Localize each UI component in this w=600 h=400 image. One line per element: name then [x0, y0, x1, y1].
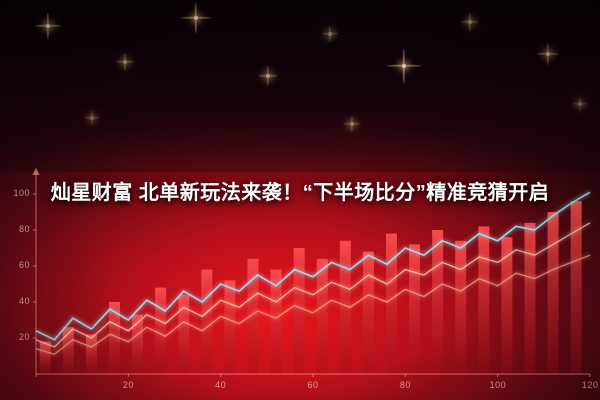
- chart-bar: [86, 334, 97, 374]
- chart-bar: [386, 234, 397, 374]
- background-top-shade: [0, 0, 600, 172]
- x-axis-tick-label: 60: [305, 380, 321, 390]
- chart-bar: [363, 252, 374, 374]
- chart-bar: [478, 226, 489, 374]
- y-axis-tick-label: 100: [0, 188, 30, 198]
- chart-bar: [548, 212, 559, 374]
- chart-bar: [409, 244, 420, 374]
- chart-bar: [40, 342, 51, 374]
- y-axis-tick-label: 80: [0, 224, 30, 234]
- chart-bar: [201, 270, 212, 374]
- y-axis-arrow-icon: [33, 168, 40, 175]
- y-axis-tick-label: 40: [0, 296, 30, 306]
- chart-bar: [455, 241, 466, 374]
- chart-bar: [155, 288, 166, 374]
- x-axis-tick-label: 80: [397, 380, 413, 390]
- chart-svg: [0, 168, 600, 400]
- chart-bar: [224, 280, 235, 374]
- chart-bars: [40, 201, 582, 374]
- y-axis-tick-label: 60: [0, 260, 30, 270]
- chart-bar: [571, 201, 582, 374]
- x-axis-tick-label: 100: [490, 380, 506, 390]
- chart-bar: [294, 248, 305, 374]
- x-axis-tick-label: 40: [213, 380, 229, 390]
- chart-bar: [524, 223, 535, 374]
- chart-bar: [178, 295, 189, 374]
- chart-bar: [432, 230, 443, 374]
- stock-chart: 2040608010020406080100120: [0, 168, 600, 400]
- chart-bar: [317, 259, 328, 374]
- y-axis-tick-label: 20: [0, 332, 30, 342]
- x-axis-tick-label: 120: [582, 380, 598, 390]
- chart-bar: [501, 237, 512, 374]
- image-canvas: 2040608010020406080100120 灿星财富 北单新玩法来袭！“…: [0, 0, 600, 400]
- x-axis-tick-label: 20: [120, 380, 136, 390]
